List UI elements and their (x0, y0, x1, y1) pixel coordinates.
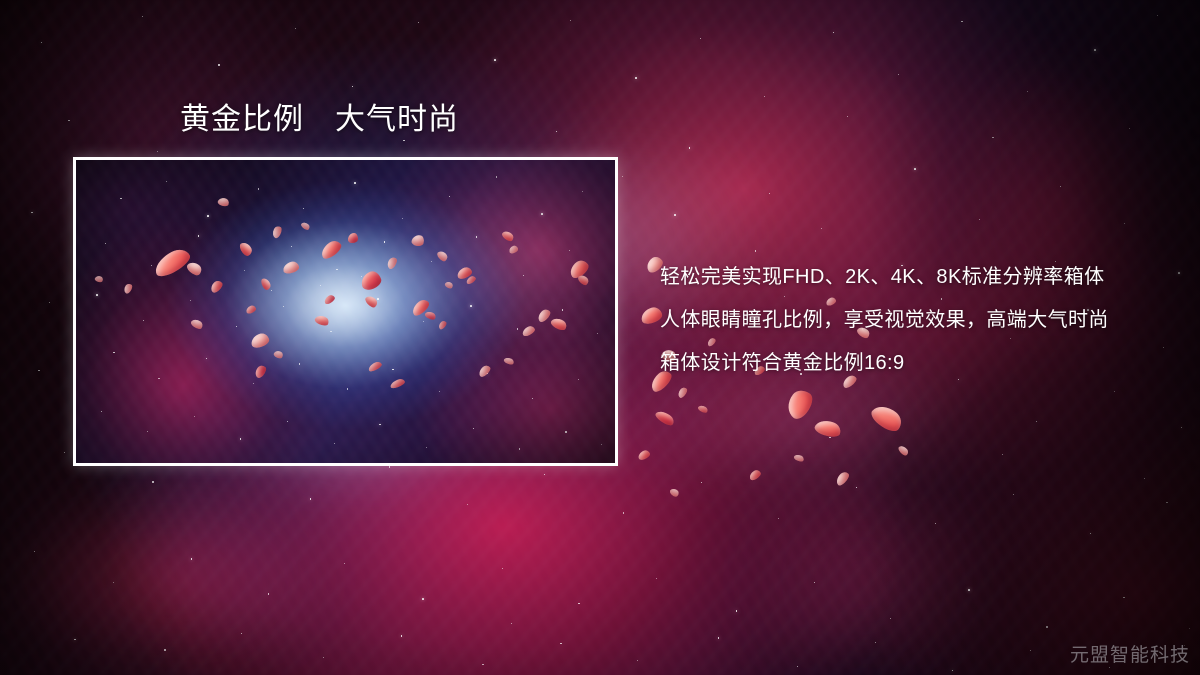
star-dot (310, 498, 312, 500)
star-dot (637, 660, 638, 661)
slide-canvas: 黄金比例 大气时尚 轻松完美实现FHD、2K、4K、8K标准分辨率箱体 人体眼睛… (0, 0, 1200, 675)
star-dot (1181, 427, 1183, 429)
flower-petal (676, 386, 688, 399)
star-dot (49, 302, 50, 303)
flower-petal (654, 408, 676, 428)
star-dot (74, 639, 76, 641)
star-dot (992, 137, 993, 138)
flower-petal (748, 469, 762, 482)
star-dot (769, 193, 770, 194)
star-dot (578, 603, 579, 604)
star-dot (1060, 186, 1061, 187)
star-dot (764, 96, 765, 97)
star-dot (295, 28, 296, 29)
star-dot (833, 32, 835, 34)
star-dot (323, 657, 324, 658)
star-dot (344, 563, 345, 564)
star-dot (736, 610, 738, 612)
star-dot (41, 42, 43, 44)
star-dot (856, 487, 858, 489)
star-dot (1123, 597, 1124, 598)
star-dot (1144, 478, 1145, 479)
star-dot (875, 642, 876, 643)
star-dot (570, 20, 571, 21)
body-line-2: 人体眼睛瞳孔比例，享受视觉效果，高端大气时尚 (660, 299, 1180, 342)
star-dot (403, 140, 404, 141)
star-dot (829, 437, 830, 438)
star-dot (718, 637, 720, 639)
star-dot (142, 16, 143, 17)
star-dot (164, 649, 165, 650)
star-dot (898, 74, 899, 75)
star-dot (113, 582, 114, 583)
star-dot (1166, 502, 1167, 503)
star-dot (890, 618, 891, 619)
star-dot (502, 568, 503, 569)
flower-petal (834, 470, 851, 487)
star-dot (1124, 223, 1125, 224)
star-dot (961, 21, 962, 22)
star-dot (1002, 454, 1003, 455)
page-title: 黄金比例 大气时尚 (180, 101, 459, 139)
star-dot (494, 59, 496, 61)
flower-petal (782, 386, 817, 422)
star-dot (1027, 91, 1028, 92)
star-dot (556, 131, 558, 133)
star-dot (511, 623, 512, 624)
star-dot (914, 168, 916, 170)
star-dot (482, 664, 483, 665)
star-dot (1013, 494, 1014, 495)
star-dot (935, 523, 936, 524)
star-dot (191, 558, 193, 560)
star-dot (674, 214, 676, 216)
star-dot (218, 64, 219, 65)
star-dot (814, 582, 815, 583)
star-dot (952, 670, 954, 672)
flower-petal (813, 418, 842, 440)
framed-display-panel (73, 157, 618, 466)
star-dot (622, 176, 623, 177)
star-dot (31, 212, 33, 214)
body-line-3: 箱体设计符合黄金比例16:9 (660, 342, 1180, 385)
star-dot (700, 38, 701, 39)
star-dot (1046, 626, 1047, 627)
star-dot (1189, 628, 1190, 629)
flower-petal (698, 404, 710, 414)
star-dot (544, 474, 546, 476)
star-dot (1114, 391, 1115, 392)
star-dot (560, 643, 561, 644)
star-dot (701, 482, 702, 483)
flower-petal (868, 400, 906, 435)
flower-petal (794, 453, 806, 463)
star-dot (1157, 15, 1158, 16)
star-dot (389, 466, 390, 467)
inner-vignette (76, 160, 615, 463)
star-dot (1030, 650, 1031, 651)
star-dot (635, 77, 637, 79)
star-dot (968, 589, 970, 591)
star-dot (268, 593, 269, 594)
star-dot (1036, 421, 1037, 422)
star-dot (1129, 128, 1130, 129)
star-dot (878, 410, 879, 411)
star-dot (778, 518, 779, 519)
star-dot (1109, 667, 1110, 668)
star-dot (467, 504, 468, 505)
star-dot (418, 22, 419, 23)
flower-petal (897, 444, 909, 457)
body-text-block: 轻松完美实现FHD、2K、4K、8K标准分辨率箱体 人体眼睛瞳孔比例，享受视觉效… (660, 256, 1180, 385)
star-dot (821, 228, 822, 229)
star-dot (755, 250, 756, 251)
watermark: 元盟智能科技 (1070, 640, 1190, 667)
star-dot (623, 512, 624, 513)
star-dot (38, 370, 39, 371)
star-dot (34, 551, 35, 552)
star-dot (64, 452, 65, 453)
star-dot (241, 633, 242, 634)
flower-petal (668, 487, 679, 498)
star-dot (1090, 533, 1092, 535)
star-dot (979, 219, 980, 220)
star-dot (847, 116, 848, 117)
star-dot (689, 147, 691, 149)
star-dot (401, 635, 403, 637)
star-dot (352, 86, 354, 88)
star-dot (422, 598, 424, 600)
star-dot (797, 666, 798, 667)
star-dot (656, 578, 657, 579)
body-line-1: 轻松完美实现FHD、2K、4K、8K标准分辨率箱体 (660, 256, 1180, 299)
star-dot (157, 151, 158, 152)
star-dot (1094, 49, 1096, 51)
star-dot (68, 120, 69, 121)
star-dot (152, 481, 153, 482)
flower-petal (637, 449, 651, 461)
